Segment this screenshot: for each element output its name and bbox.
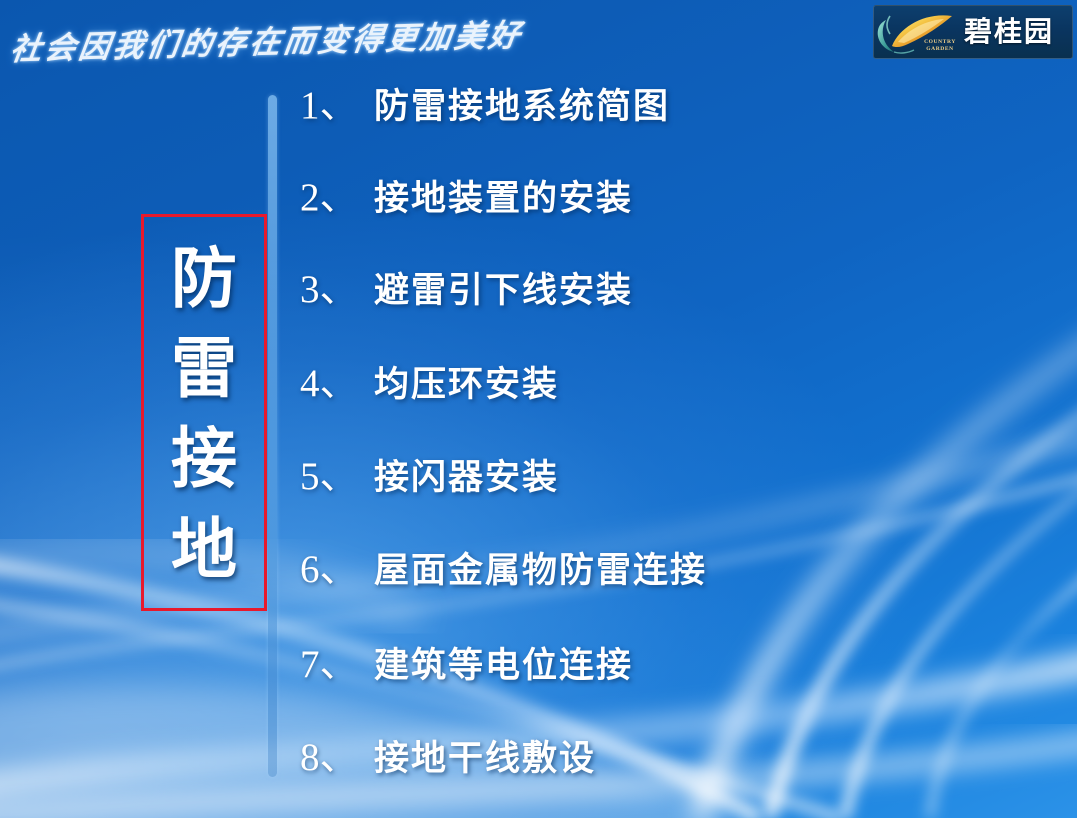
- vertical-divider: [268, 95, 277, 777]
- title-char: 雷: [171, 337, 237, 402]
- list-item-label: 防雷接地系统简图: [374, 90, 670, 125]
- list-item-number: 8、: [300, 738, 374, 777]
- logo-chinese-text: 碧桂园: [964, 18, 1054, 46]
- title-char: 地: [171, 518, 237, 583]
- list-item-number: 7、: [300, 645, 374, 684]
- list-item[interactable]: 5、 接闪器安装: [300, 457, 559, 496]
- list-item[interactable]: 1、 防雷接地系统简图: [300, 86, 670, 125]
- list-item-label: 屋面金属物防雷连接: [374, 554, 707, 589]
- list-item[interactable]: 4、 均压环安装: [300, 364, 559, 403]
- list-item-number: 6、: [300, 550, 374, 589]
- list-item[interactable]: 8、 接地干线敷设: [300, 738, 596, 777]
- list-item[interactable]: 2、 接地装置的安装: [300, 178, 633, 217]
- list-item-number: 3、: [300, 270, 374, 309]
- list-item-number: 1、: [300, 86, 374, 125]
- list-item-label: 接闪器安装: [374, 461, 559, 496]
- list-item-label: 均压环安装: [374, 368, 559, 403]
- list-item-number: 5、: [300, 457, 374, 496]
- slide-root: 社会因我们的存在而变得更加美好: [0, 0, 1077, 818]
- list-item-number: 4、: [300, 364, 374, 403]
- list-item[interactable]: 7、 建筑等电位连接: [300, 645, 633, 684]
- list-item-label: 避雷引下线安装: [374, 274, 633, 309]
- country-garden-logo[interactable]: COUNTRY GARDEN 碧桂园: [873, 5, 1073, 59]
- list-item[interactable]: 3、 避雷引下线安装: [300, 270, 633, 309]
- list-item-label: 建筑等电位连接: [374, 649, 633, 684]
- list-item[interactable]: 6、 屋面金属物防雷连接: [300, 550, 707, 589]
- list-item-label: 接地装置的安装: [374, 182, 633, 217]
- logo-english-line2: GARDEN: [914, 46, 966, 53]
- title-char: 防: [171, 247, 237, 312]
- company-slogan: 社会因我们的存在而变得更加美好: [7, 4, 717, 76]
- title-char: 接: [171, 427, 237, 492]
- logo-english-line1: COUNTRY: [914, 39, 966, 46]
- list-item-number: 2、: [300, 178, 374, 217]
- section-title-box: 防 雷 接 地: [141, 214, 267, 611]
- logo-mark-icon: COUNTRY GARDEN: [874, 6, 966, 58]
- logo-english-text: COUNTRY GARDEN: [914, 39, 966, 53]
- list-item-label: 接地干线敷设: [374, 742, 596, 777]
- outline-list: 1、 防雷接地系统简图 2、 接地装置的安装 3、 避雷引下线安装 4、 均压环…: [300, 82, 1060, 818]
